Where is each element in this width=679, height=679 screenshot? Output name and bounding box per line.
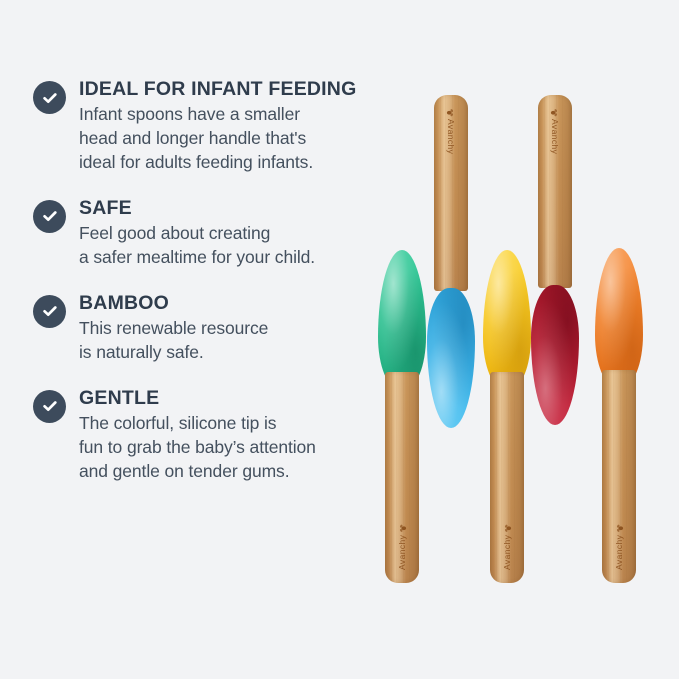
feature-body: Infant spoons have a smaller head and lo…: [79, 103, 373, 174]
feature-body: The colorful, silicone tip is fun to gra…: [79, 412, 373, 483]
green-spoon-silicone-tip: [378, 250, 426, 390]
feature-title: SAFE: [79, 197, 373, 219]
check-circle-icon: [33, 81, 66, 114]
blue-spoon-silicone-tip: [427, 288, 475, 428]
brand-name: Avanchy: [397, 535, 407, 570]
bee-icon: [398, 524, 407, 533]
feature-title: GENTLE: [79, 387, 373, 409]
feature-item-gentle: GENTLE The colorful, silicone tip is fun…: [33, 387, 373, 484]
brand-engraving-avanchy: Avanchy: [614, 524, 624, 570]
check-circle-icon: [33, 200, 66, 233]
feature-item-safe: SAFE Feel good about creating a safer me…: [33, 197, 373, 270]
brand-engraving-avanchy: Avanchy: [397, 524, 407, 570]
orange-spoon-silicone-tip: [595, 248, 643, 388]
brand-name: Avanchy: [550, 119, 560, 154]
product-image-spoons: Avanchy: [370, 0, 679, 679]
brand-engraving-avanchy: Avanchy: [550, 108, 560, 154]
feature-title: IDEAL FOR INFANT FEEDING: [79, 78, 373, 100]
brand-name: Avanchy: [614, 535, 624, 570]
brand-mark: [551, 108, 560, 117]
feature-body: This renewable resource is naturally saf…: [79, 317, 373, 365]
check-circle-icon: [33, 390, 66, 423]
brand-engraving-avanchy: Avanchy: [446, 108, 456, 154]
feature-body: Feel good about creating a safer mealtim…: [79, 222, 373, 270]
feature-item-ideal-for-infant-feeding: IDEAL FOR INFANT FEEDING Infant spoons h…: [33, 78, 373, 175]
feature-item-bamboo: BAMBOO This renewable resource is natura…: [33, 292, 373, 365]
feature-title: BAMBOO: [79, 292, 373, 314]
bee-icon: [615, 524, 624, 533]
infographic-canvas: IDEAL FOR INFANT FEEDING Infant spoons h…: [0, 0, 679, 679]
yellow-spoon-silicone-tip: [483, 250, 531, 390]
brand-mark: [447, 108, 456, 117]
brand-engraving-avanchy: Avanchy: [502, 524, 512, 570]
check-circle-icon: [33, 295, 66, 328]
bee-icon: [503, 524, 512, 533]
red-spoon-silicone-tip: [531, 285, 579, 425]
feature-list: IDEAL FOR INFANT FEEDING Infant spoons h…: [33, 78, 373, 484]
brand-name: Avanchy: [502, 535, 512, 570]
brand-name: Avanchy: [446, 119, 456, 154]
